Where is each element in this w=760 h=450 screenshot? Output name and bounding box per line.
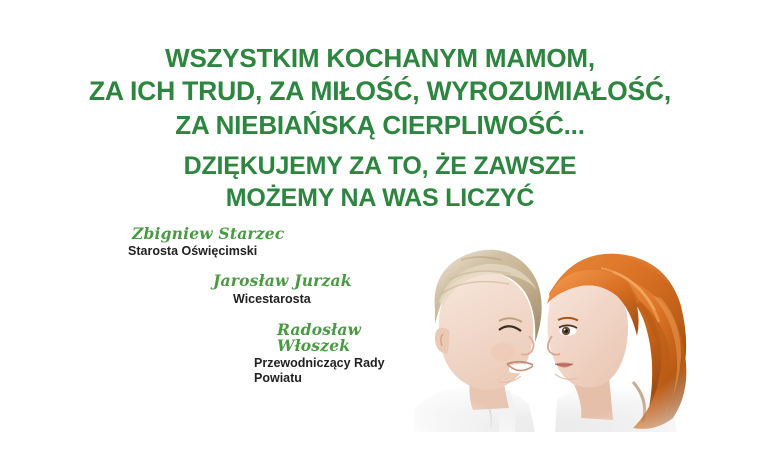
signature-title: Starosta Oświęcimski bbox=[128, 244, 420, 259]
message-line-3: ZA NIEBIAŃSKĄ CIERPLIWOŚĆ... bbox=[0, 112, 760, 138]
signature-name: Radosław Włoszek bbox=[277, 322, 420, 355]
message-paragraph-2: DZIĘKUJEMY ZA TO, ŻE ZAWSZE MOŻEMY NA WA… bbox=[0, 154, 760, 211]
message-line-2: ZA ICH TRUD, ZA MIŁOŚĆ, WYROZUMIAŁOŚĆ, bbox=[0, 78, 760, 105]
signature-title: Wicestarosta bbox=[233, 292, 420, 307]
greeting-card: WSZYSTKIM KOCHANYM MAMOM, ZA ICH TRUD, Z… bbox=[0, 0, 760, 450]
signature-title: Przewodniczący Rady Powiatu bbox=[254, 356, 420, 386]
signature-block-wicestarosta: Jarosław Jurzak Wicestarosta bbox=[213, 273, 420, 306]
signature-list: Zbigniew Starzec Starosta Oświęcimski Ja… bbox=[0, 226, 420, 386]
signature-block-przewodniczacy: Radosław Włoszek Przewodniczący Rady Pow… bbox=[277, 322, 420, 387]
message-line-1: WSZYSTKIM KOCHANYM MAMOM, bbox=[0, 45, 760, 71]
signature-name: Jarosław Jurzak bbox=[213, 273, 420, 289]
signature-name: Zbigniew Starzec bbox=[132, 226, 420, 242]
message-line-5: MOŻEMY NA WAS LICZYĆ bbox=[0, 186, 760, 211]
greeting-message: WSZYSTKIM KOCHANYM MAMOM, ZA ICH TRUD, Z… bbox=[0, 45, 760, 218]
signature-block-starosta: Zbigniew Starzec Starosta Oświęcimski bbox=[132, 226, 420, 259]
message-paragraph-1: WSZYSTKIM KOCHANYM MAMOM, ZA ICH TRUD, Z… bbox=[0, 45, 760, 138]
mother-and-son-photo bbox=[405, 232, 710, 432]
message-line-4: DZIĘKUJEMY ZA TO, ŻE ZAWSZE bbox=[0, 154, 760, 179]
